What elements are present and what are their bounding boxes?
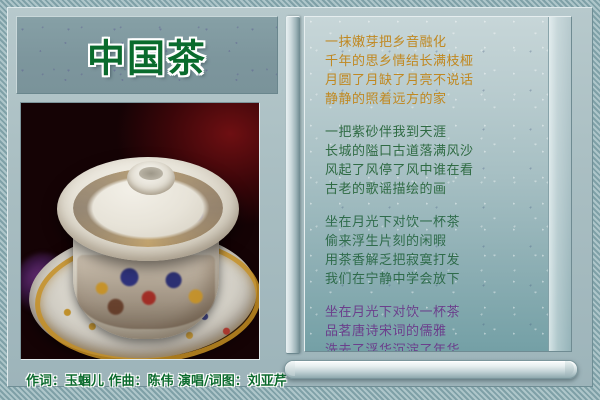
main-card: 中国茶 作词：玉蝈儿 作曲：陈伟 演唱/词图：刘亚芹 — [7, 7, 593, 387]
lyric-line: 我们在宁静中学会放下 — [325, 270, 561, 289]
stanza-3: 坐在月光下对饮一杯茶 偷来浮生片刻的闲暇 用茶香解乏把寂寞打发 我们在宁静中学会… — [325, 213, 561, 289]
lyric-line: 坐在月光下对饮一杯茶 — [325, 303, 561, 322]
lyric-line: 品茗唐诗宋词的儒雅 — [325, 322, 561, 341]
photo-cup-decorative-band — [77, 255, 215, 329]
teacup-photo — [20, 102, 260, 360]
lyric-line: 坐在月光下对饮一杯茶 — [325, 213, 561, 232]
lyric-line: 一抹嫩芽把乡音融化 — [325, 33, 561, 52]
title-band: 中国茶 — [16, 16, 278, 94]
lyric-line: 洗去了浮华沉淀了年华 — [325, 341, 561, 352]
lyric-line: 古老的歌谣描绘的画 — [325, 180, 561, 199]
lyric-line: 偷来浮生片刻的闲暇 — [325, 232, 561, 251]
lyric-line: 一把紫砂伴我到天涯 — [325, 123, 561, 142]
stanza-1: 一抹嫩芽把乡音融化 千年的思乡情结长满枝桠 月圆了月缺了月亮不说话 静静的照着远… — [325, 33, 561, 109]
lyrics-content: 一抹嫩芽把乡音融化 千年的思乡情结长满枝桠 月圆了月缺了月亮不说话 静静的照着远… — [305, 17, 571, 352]
lyric-line: 用茶香解乏把寂寞打发 — [325, 251, 561, 270]
slider-cap-left — [286, 361, 295, 376]
stanza-4: 坐在月光下对饮一杯茶 品茗唐诗宋词的儒雅 洗去了浮华沉淀了年华 我们在时光中回味… — [325, 303, 561, 352]
lyrics-panel: 一抹嫩芽把乡音融化 千年的思乡情结长满枝桠 月圆了月缺了月亮不说话 静静的照着远… — [304, 16, 572, 352]
lyric-line: 长城的隘口古道落满风沙 — [325, 142, 561, 161]
credits-line: 作词：玉蝈儿 作曲：陈伟 演唱/词图：刘亚芹 — [26, 370, 278, 389]
vertical-divider-bar — [286, 16, 300, 354]
horizontal-slider-bar[interactable] — [284, 360, 578, 379]
lyric-line: 千年的思乡情结长满枝桠 — [325, 52, 561, 71]
lyric-line: 月圆了月缺了月亮不说话 — [325, 71, 561, 90]
lyric-line: 风起了风停了风中谁在看 — [325, 161, 561, 180]
lyric-line: 静静的照着远方的家 — [325, 90, 561, 109]
left-column: 中国茶 作词：玉蝈儿 作曲：陈伟 演唱/词图：刘亚芹 — [16, 16, 278, 378]
stanza-2: 一把紫砂伴我到天涯 长城的隘口古道落满风沙 风起了风停了风中谁在看 古老的歌谣描… — [325, 123, 561, 199]
panel-right-strip — [548, 17, 571, 351]
screenshot-canvas: 中国茶 作词：玉蝈儿 作曲：陈伟 演唱/词图：刘亚芹 — [0, 0, 600, 400]
page-title: 中国茶 — [17, 28, 277, 83]
photo-lid-knob-hollow — [139, 167, 163, 180]
